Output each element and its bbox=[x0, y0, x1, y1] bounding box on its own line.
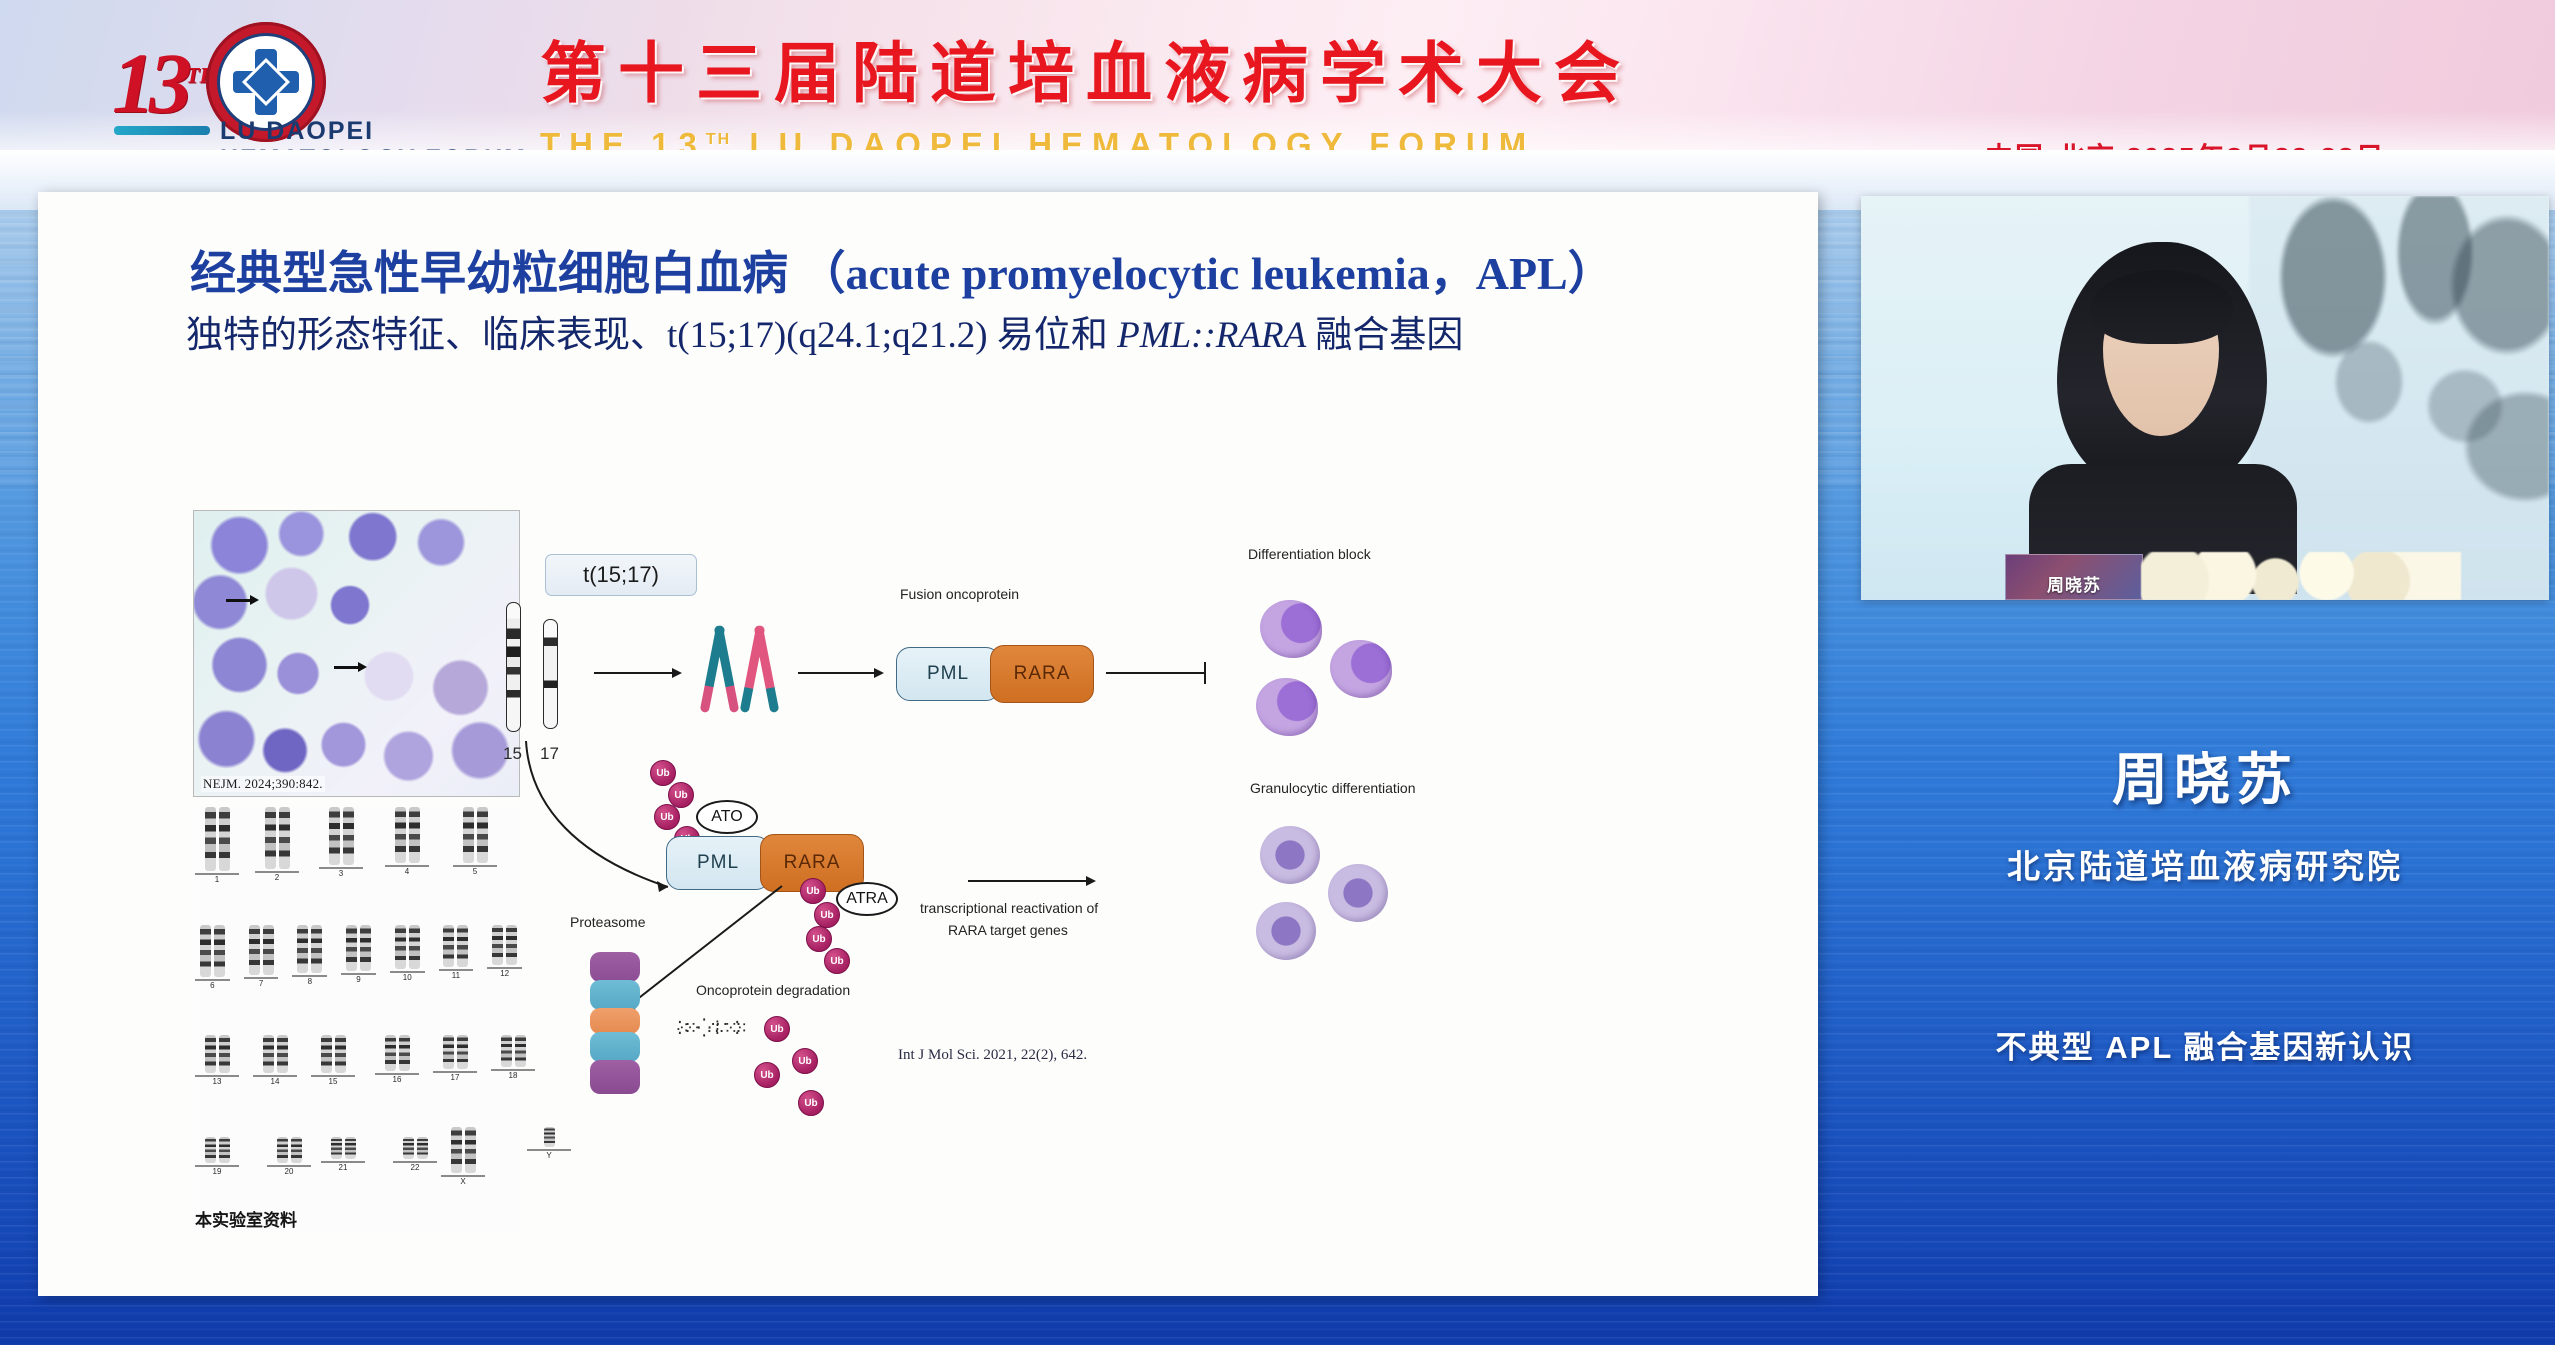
karyotype-pair: 7 bbox=[244, 925, 279, 990]
micrograph-arrow-icon-2 bbox=[334, 666, 360, 669]
chromosome-pair bbox=[255, 807, 299, 869]
chromosome bbox=[329, 807, 340, 865]
free-ubiquitin-4: Ub bbox=[798, 1090, 824, 1116]
chromosome bbox=[291, 1137, 302, 1163]
chromosome-pair bbox=[393, 1137, 437, 1159]
desk-nameplate-text: 周晓苏 bbox=[2047, 571, 2101, 596]
chromosome-pair bbox=[375, 1035, 419, 1071]
ubiquitin-8: Ub bbox=[824, 948, 850, 974]
chromosome bbox=[501, 1035, 512, 1067]
chromosome-pair bbox=[491, 1035, 535, 1067]
karyotype-pair: 2 bbox=[255, 807, 299, 884]
chromosome bbox=[360, 925, 371, 971]
karyotype-label: 3 bbox=[319, 869, 363, 879]
ubiquitin-7: Ub bbox=[806, 926, 832, 952]
proteasome-ring-2 bbox=[590, 1008, 640, 1034]
karyotype-label: 7 bbox=[244, 979, 279, 989]
chromosome bbox=[205, 807, 216, 871]
karyotype-image: 12345678910111213141516171819202122XY 本实… bbox=[193, 807, 520, 1232]
chromosome-pair bbox=[453, 807, 497, 863]
chromosome-pair bbox=[441, 1127, 485, 1173]
chromosome-pair bbox=[385, 807, 429, 863]
arrow-to-granulocyte-icon bbox=[968, 880, 1088, 882]
ubiquitin-3: Ub bbox=[654, 804, 680, 830]
differentiation-block-label: Differentiation block bbox=[1248, 546, 1371, 562]
blast-cell-3 bbox=[1256, 678, 1318, 736]
karyotype-label: 4 bbox=[385, 867, 429, 877]
arrow-to-fusion-icon bbox=[798, 672, 876, 674]
chromosome-pair bbox=[487, 925, 522, 965]
chromosome-pair bbox=[321, 1137, 365, 1159]
chromosome bbox=[403, 1137, 414, 1159]
chromosome-pair bbox=[195, 1035, 239, 1073]
granulocyte-cell-3 bbox=[1256, 902, 1316, 960]
karyotype-pair: 15 bbox=[311, 1035, 355, 1086]
chromosome bbox=[395, 807, 406, 863]
chromosome bbox=[331, 1137, 342, 1159]
degraded-protein-fragments: ∙⁚⁖∶⁘⁛∴⁞∵⁙⁚∶⁖ bbox=[676, 1022, 766, 1035]
slide-subtitle-part2: 融合基因 bbox=[1306, 315, 1463, 356]
chromosome-pair bbox=[341, 925, 376, 971]
chromosome bbox=[279, 807, 290, 869]
karyotype-label: 11 bbox=[439, 971, 474, 981]
karyotype-pair: 13 bbox=[195, 1035, 239, 1086]
arrow-to-derivative-icon bbox=[594, 672, 674, 674]
karyotype-label: 14 bbox=[253, 1077, 297, 1087]
logo-en-line1: LU DAOPEI bbox=[220, 118, 527, 146]
ubiquitin-5: Ub bbox=[800, 878, 826, 904]
karyotype-label: 20 bbox=[267, 1167, 311, 1177]
apl-pathway-diagram: t(15;17) 15 17 Fusion oncoprotein PML RA… bbox=[548, 482, 1778, 1262]
karyotype-label: 13 bbox=[195, 1077, 239, 1087]
desk-nameplate: 周晓苏 bbox=[2005, 554, 2143, 600]
atra-drug-label: ATRA bbox=[836, 882, 898, 916]
karyotype-pair: 4 bbox=[385, 807, 429, 876]
karyotype-label: 21 bbox=[321, 1163, 365, 1173]
ubiquitin-6: Ub bbox=[814, 902, 840, 928]
chromosome bbox=[385, 1035, 396, 1071]
speaker-figure bbox=[2057, 242, 2267, 572]
chromosome bbox=[395, 925, 406, 969]
karyotype-pair: 18 bbox=[491, 1035, 535, 1084]
chromosome bbox=[335, 1035, 346, 1073]
karyotype-label: 22 bbox=[393, 1163, 437, 1173]
blast-cell-1 bbox=[1260, 600, 1322, 658]
karyotype-label: 6 bbox=[195, 981, 230, 991]
flower-arrangement bbox=[2141, 552, 2461, 600]
micrograph-arrow-icon-1 bbox=[226, 599, 252, 602]
chromosome bbox=[492, 925, 503, 965]
slide-subtitle: 独特的形态特征、临床表现、t(15;17)(q24.1;q21.2) 易位和 P… bbox=[186, 304, 1463, 358]
chromosome bbox=[205, 1137, 216, 1163]
free-ubiquitin-1: Ub bbox=[764, 1016, 790, 1042]
banner-title-chinese: 第十三届陆道培血液病学术大会 bbox=[540, 20, 1632, 116]
chromosome bbox=[249, 925, 260, 975]
karyotype-label: 8 bbox=[292, 977, 327, 987]
chromosome bbox=[451, 1127, 462, 1173]
ato-drug-label: ATO bbox=[696, 800, 758, 834]
karyotype-label: 18 bbox=[491, 1071, 535, 1081]
chromosome bbox=[457, 925, 468, 967]
karyotype-pair: 8 bbox=[292, 925, 327, 990]
diagram-citation: Int J Mol Sci. 2021, 22(2), 642. bbox=[898, 1047, 1087, 1064]
free-ubiquitin-3: Ub bbox=[754, 1062, 780, 1088]
chromosome bbox=[443, 925, 454, 967]
chromosome-pair bbox=[195, 925, 230, 977]
logo-underline-bar bbox=[114, 126, 210, 135]
pml-rara-fusion-protein-top: PML RARA bbox=[896, 645, 1094, 703]
chromosome bbox=[277, 1137, 288, 1163]
chromosome bbox=[219, 1035, 230, 1073]
chromosome bbox=[465, 1127, 476, 1173]
bone-marrow-micrograph: NEJM. 2024;390:842. bbox=[193, 510, 520, 797]
chromosome bbox=[214, 925, 225, 977]
karyotype-pair: 20 bbox=[267, 1137, 311, 1176]
chromosome bbox=[263, 925, 274, 975]
karyotype-row: 6789101112 bbox=[195, 925, 522, 990]
granulocytic-differentiation-label: Granulocytic differentiation bbox=[1250, 780, 1416, 796]
karyotype-pair: 17 bbox=[433, 1035, 477, 1084]
chromosome bbox=[205, 1035, 216, 1073]
chromosome bbox=[219, 807, 230, 871]
karyotype-label: 15 bbox=[311, 1077, 355, 1087]
chromosome bbox=[409, 925, 420, 969]
ubiquitin-1: Ub bbox=[650, 760, 676, 786]
free-ubiquitin-2: Ub bbox=[792, 1048, 818, 1074]
translocation-box: t(15;17) bbox=[545, 554, 697, 596]
chromosome-pair bbox=[292, 925, 327, 973]
karyotype-pair: 12 bbox=[487, 925, 522, 990]
chromosome-pair bbox=[311, 1035, 355, 1073]
chromosome bbox=[457, 1035, 468, 1069]
granulocyte-cell-1 bbox=[1260, 826, 1320, 884]
pml-domain-top: PML bbox=[896, 647, 1000, 701]
chromosome-17-ideogram bbox=[543, 619, 558, 729]
fusion-oncoprotein-label: Fusion oncoprotein bbox=[900, 586, 1019, 602]
derivative-chromosome-2 bbox=[748, 625, 774, 713]
chromosome bbox=[515, 1035, 526, 1067]
chromosome-15-ideogram bbox=[506, 602, 521, 732]
karyotype-pair: 6 bbox=[195, 925, 230, 990]
karyotype-pair: 14 bbox=[253, 1035, 297, 1086]
karyotype-pair: 11 bbox=[439, 925, 474, 990]
karyotype-label: 9 bbox=[341, 975, 376, 985]
karyotype-pair: 1 bbox=[195, 807, 239, 884]
karyotype-label: 1 bbox=[195, 875, 239, 885]
proteasome-structure bbox=[590, 952, 640, 1102]
proteasome-label: Proteasome bbox=[570, 914, 645, 930]
slide-title: 经典型急性早幼粒细胞白血病 （acute promyelocytic leuke… bbox=[190, 237, 1614, 303]
chromosome bbox=[399, 1035, 410, 1071]
karyotype-caption: 本实验室资料 bbox=[195, 1206, 297, 1231]
oncoprotein-degradation-label: Oncoprotein degradation bbox=[696, 982, 850, 998]
karyotype-pair: 16 bbox=[375, 1035, 419, 1084]
proteasome-ring-3 bbox=[590, 1032, 640, 1062]
speaker-video-feed: 周晓苏 bbox=[1861, 196, 2549, 600]
chromosome bbox=[263, 1035, 274, 1073]
chromosome bbox=[417, 1137, 428, 1159]
karyotype-pair: 19 bbox=[195, 1137, 239, 1176]
chromosome-pair bbox=[195, 807, 239, 871]
karyotype-label: 5 bbox=[453, 867, 497, 877]
karyotype-label: 12 bbox=[487, 969, 522, 979]
chromosome-pair bbox=[195, 1137, 239, 1163]
chromosome bbox=[297, 925, 308, 973]
speaker-fringe bbox=[2091, 270, 2233, 344]
slide-subtitle-part1: 独特的形态特征、临床表现、t(15;17)(q24.1;q21.2) 易位和 bbox=[186, 315, 1117, 356]
chromosome-pair bbox=[253, 1035, 297, 1073]
chromosome bbox=[346, 925, 357, 971]
chromosome bbox=[200, 925, 211, 977]
karyotype-pair: 9 bbox=[341, 925, 376, 990]
karyotype-pair: 21 bbox=[321, 1137, 365, 1172]
chromosome bbox=[265, 807, 276, 869]
chromosome bbox=[477, 807, 488, 863]
chromosome bbox=[409, 807, 420, 863]
chromosome bbox=[277, 1035, 288, 1073]
blast-cell-2 bbox=[1330, 640, 1392, 698]
chromosome bbox=[443, 1035, 454, 1069]
karyotype-label: 16 bbox=[375, 1075, 419, 1085]
karyotype-pair: 3 bbox=[319, 807, 363, 884]
karyotype-label: X bbox=[441, 1177, 485, 1187]
chromosome-pair bbox=[390, 925, 425, 969]
derivative-chromosome-1 bbox=[708, 625, 734, 713]
karyotype-label: 10 bbox=[390, 973, 425, 983]
chromosome bbox=[219, 1137, 230, 1163]
karyotype-pair: 5 bbox=[453, 807, 497, 876]
chromosome-pair bbox=[267, 1137, 311, 1163]
karyotype-pair: 22 bbox=[393, 1137, 437, 1172]
chromosome-pair bbox=[319, 807, 363, 865]
chromosome-pair bbox=[433, 1035, 477, 1069]
logo-number: 13TH bbox=[112, 40, 217, 126]
proteasome-ring-1 bbox=[590, 980, 640, 1010]
rara-domain-top: RARA bbox=[990, 645, 1094, 703]
chromosome bbox=[463, 807, 474, 863]
chromosome bbox=[321, 1035, 332, 1073]
granulocyte-cell-2 bbox=[1328, 864, 1388, 922]
proteasome-cap-bottom bbox=[590, 1060, 640, 1094]
broadcast-stage: 13TH LU DAOPEI HEMATOLOGY FORUM 第十三届陆道培血… bbox=[0, 0, 2555, 1345]
karyotype-label: 19 bbox=[195, 1167, 239, 1177]
speaker-name: 周晓苏 bbox=[1861, 735, 2549, 816]
speaker-organization: 北京陆道培血液病研究院 bbox=[1861, 840, 2549, 888]
chromosome bbox=[311, 925, 322, 973]
micrograph-caption: NEJM. 2024;390:842. bbox=[201, 776, 325, 792]
karyotype-label: 2 bbox=[255, 873, 299, 883]
karyotype-pair: X bbox=[441, 1127, 485, 1186]
speaker-talk-title: 不典型 APL 融合基因新认识 bbox=[1861, 1022, 2549, 1067]
presentation-slide: 经典型急性早幼粒细胞白血病 （acute promyelocytic leuke… bbox=[38, 192, 1818, 1296]
karyotype-pair: 10 bbox=[390, 925, 425, 990]
inhibition-bar-icon bbox=[1106, 672, 1204, 674]
karyotype-label: 17 bbox=[433, 1073, 477, 1083]
chromosome-pair bbox=[244, 925, 279, 975]
chromosome bbox=[506, 925, 517, 965]
reactivation-label-line2: RARA target genes bbox=[948, 922, 1068, 938]
proteasome-cap-top bbox=[590, 952, 640, 982]
reactivation-label-line1: transcriptional reactivation of bbox=[920, 900, 1098, 916]
slide-subtitle-gene: PML::RARA bbox=[1117, 315, 1306, 356]
chromosome bbox=[345, 1137, 356, 1159]
chromosome bbox=[343, 807, 354, 865]
banner-en-ordinal: TH bbox=[706, 131, 731, 148]
chromosome-pair bbox=[439, 925, 474, 967]
